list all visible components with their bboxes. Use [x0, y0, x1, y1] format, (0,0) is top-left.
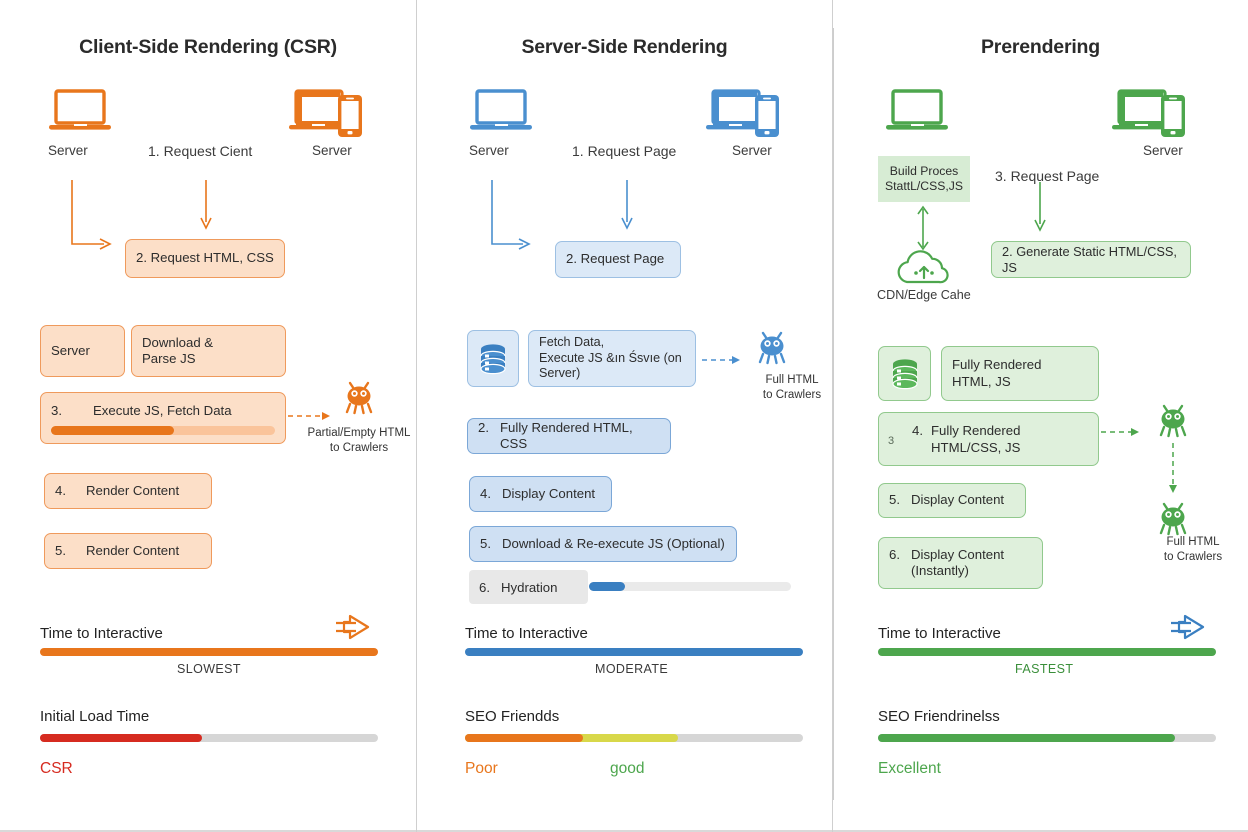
column-prerendering: Prerendering: [832, 0, 1248, 832]
device-label-server-right: Server: [312, 143, 352, 158]
metric-bar-fill-load: [40, 734, 202, 742]
step-box-fully-rendered-html-css[interactable]: 2. Fully Rendered HTML, CSS: [467, 418, 671, 454]
metric-label-time-to-interactive: Time to Interactive: [878, 625, 1001, 642]
request-step-label: 1. Request Page: [572, 143, 676, 159]
metric-bar-tti-ssr: [465, 648, 803, 656]
verdict-poor: Poor: [465, 760, 498, 778]
step-box-download-parse-js[interactable]: Download & Parse JS: [131, 325, 286, 377]
step-box-execute-js[interactable]: 3. Execute JS, Fetch Data: [40, 392, 286, 444]
step-box-label: Display Content: [502, 486, 595, 503]
step-number: 5.: [889, 492, 900, 509]
step-box-display-content-5[interactable]: 5. Display Content: [878, 483, 1026, 518]
step-box-label: Fully Rendered HTML/CSS, JS: [931, 423, 1020, 456]
metric-label-time-to-interactive: Time to Interactive: [40, 625, 163, 642]
dashed-arrow-down-to-crawler: [1165, 443, 1181, 501]
step-box-fully-rendered-html-css-js[interactable]: 3 4. Fully Rendered HTML/CSS, JS: [878, 412, 1099, 466]
column-csr: Client-Side Rendering (CSR) Server 1. Re…: [0, 0, 416, 832]
page-title-csr: Client-Side Rendering (CSR): [0, 36, 416, 59]
crawler-caption-line2: to Crawlers: [330, 442, 388, 454]
step-box-download-reexecute-js[interactable]: 5. Download & Re-execute JS (Optional): [469, 526, 737, 562]
database-icon: [478, 342, 508, 376]
crawler-caption-line1: Full HTML: [1166, 536, 1219, 548]
crawler-caption: Full HTML to Crawlers: [1133, 535, 1248, 565]
step-box-label: 2. Request HTML, CSS: [126, 250, 284, 267]
crawler-bug-icon: [750, 327, 794, 367]
metric-caption-moderate: MODERATE: [595, 662, 668, 676]
request-step-label: 1. Request Cient: [148, 143, 252, 159]
step-box-hydration[interactable]: 6. Hydration: [469, 570, 588, 604]
device-label-server-right: Server: [732, 143, 772, 158]
crawler-bug-icon: [337, 377, 381, 417]
laptop-phone-icon: [1111, 87, 1189, 139]
step-box-label: Fully Rendered HTML, JS: [942, 357, 1098, 390]
crawler-caption-line2: to Crawlers: [763, 389, 821, 401]
rendering-comparison-diagram: Client-Side Rendering (CSR) Server 1. Re…: [0, 0, 1248, 832]
laptop-phone-icon: [288, 87, 366, 139]
step-box-label: Execute JS, Fetch Data: [93, 403, 232, 420]
device-label-server-left: Server: [469, 143, 509, 158]
step-box-render-content-4[interactable]: 4. Render Content: [44, 473, 212, 509]
crawler-caption-line2: to Crawlers: [1164, 551, 1222, 563]
step-box-label: Fully Rendered HTML, CSS: [500, 420, 660, 453]
step-box-fully-rendered-html-js[interactable]: Fully Rendered HTML, JS: [941, 346, 1099, 401]
crawler-bug-icon: [1151, 400, 1195, 440]
step-box-label: Fetch Data, Execute JS &ın Śsvıe (on Ser…: [529, 335, 695, 382]
metric-label-initial-load-time: Initial Load Time: [40, 708, 149, 725]
step-box-render-content-5[interactable]: 5. Render Content: [44, 533, 212, 569]
dashed-arrow-to-crawler: [288, 410, 338, 422]
dashed-arrow-to-crawler: [702, 354, 752, 366]
laptop-icon: [469, 89, 535, 135]
step-box-label: Display Content: [911, 492, 1004, 509]
step-box-label: Hydration: [501, 580, 557, 595]
laptop-icon: [885, 89, 951, 135]
device-label-server-right: Server: [1143, 143, 1183, 158]
step-number: 4.: [912, 423, 923, 440]
step-number: 2.: [478, 420, 489, 453]
verdict-good: good: [610, 760, 644, 778]
step-box-label: Display Content (Instantly): [911, 547, 1004, 580]
step-side-number: 3: [888, 435, 894, 449]
step-box-label: Download & Re-execute JS (Optional): [502, 536, 725, 553]
crawler-caption-line1: Full HTML: [765, 374, 818, 386]
crawler-caption: Partial/Empty HTML to Crawlers: [284, 426, 434, 456]
flow-arrow-prerendering: [833, 182, 1248, 242]
device-label-server-left: Server: [48, 143, 88, 158]
step-box-label: 2. Generate Static HTML/CSS, JS: [992, 244, 1190, 276]
progress-fill: [51, 426, 174, 435]
step-box-display-content-6[interactable]: 6. Display Content (Instantly): [878, 537, 1043, 589]
step-box-label: Render Content: [86, 483, 179, 500]
crawler-bug-icon: [1151, 498, 1195, 538]
step-box-server[interactable]: Server: [40, 325, 125, 377]
double-arrow-icon: [334, 613, 374, 643]
step-number: 3.: [51, 403, 62, 420]
verdict-excellent: Excellent: [878, 760, 941, 778]
laptop-phone-icon: [705, 87, 783, 139]
metric-bar-tti-csr: [40, 648, 378, 656]
step-box-label: Download & Parse JS: [132, 335, 285, 368]
cloud-upload-icon: [891, 248, 957, 288]
step-number: 4.: [480, 486, 491, 503]
step-box-request-html-css[interactable]: 2. Request HTML, CSS: [125, 239, 285, 278]
verdict-csr: CSR: [40, 760, 73, 778]
step-box-database[interactable]: [878, 346, 931, 401]
crawler-caption-line1: Partial/Empty HTML: [308, 427, 411, 439]
metric-label-time-to-interactive: Time to Interactive: [465, 625, 588, 642]
metric-caption-fastest: FASTEST: [1015, 662, 1073, 676]
metric-bar-fill-seo-poor: [465, 734, 583, 742]
step-number: 6.: [889, 547, 900, 580]
metric-label-seo-friendliness: SEO Friendds: [465, 708, 559, 725]
dashed-arrow-to-crawler: [1101, 425, 1151, 439]
step-box-display-content-4[interactable]: 4. Display Content: [469, 476, 612, 512]
step-box-request-page[interactable]: 2. Request Page: [555, 241, 681, 278]
step-box-fetch-data[interactable]: Fetch Data, Execute JS &ın Śsvıe (on Ser…: [528, 330, 696, 387]
step-box-label: 2. Request Page: [556, 251, 680, 268]
laptop-icon: [48, 89, 114, 135]
metric-caption-slowest: SLOWEST: [177, 662, 241, 676]
page-title-ssr: Server-Side Rendering: [417, 36, 832, 59]
step-box-label: Server: [41, 343, 124, 360]
step-box-database[interactable]: [467, 330, 519, 387]
step-number: 6.: [479, 580, 490, 595]
metric-bar-fill-seo: [878, 734, 1175, 742]
hydration-progress-fill: [589, 582, 625, 591]
metric-label-seo-friendliness: SEO Friendrinelss: [878, 708, 1000, 725]
step-box-generate-static[interactable]: 2. Generate Static HTML/CSS, JS: [991, 241, 1191, 278]
column-ssr: Server-Side Rendering Server 1. Request …: [416, 0, 832, 832]
step-number: 4.: [55, 483, 66, 500]
database-icon: [890, 357, 920, 391]
cdn-label: CDN/Edge Cahe: [877, 288, 971, 302]
page-title-prerendering: Prerendering: [833, 36, 1248, 59]
step-number: 5.: [480, 536, 491, 553]
step-box-label: Render Content: [86, 543, 179, 560]
metric-bar-tti-prerendering: [878, 648, 1216, 656]
step-number: 5.: [55, 543, 66, 560]
